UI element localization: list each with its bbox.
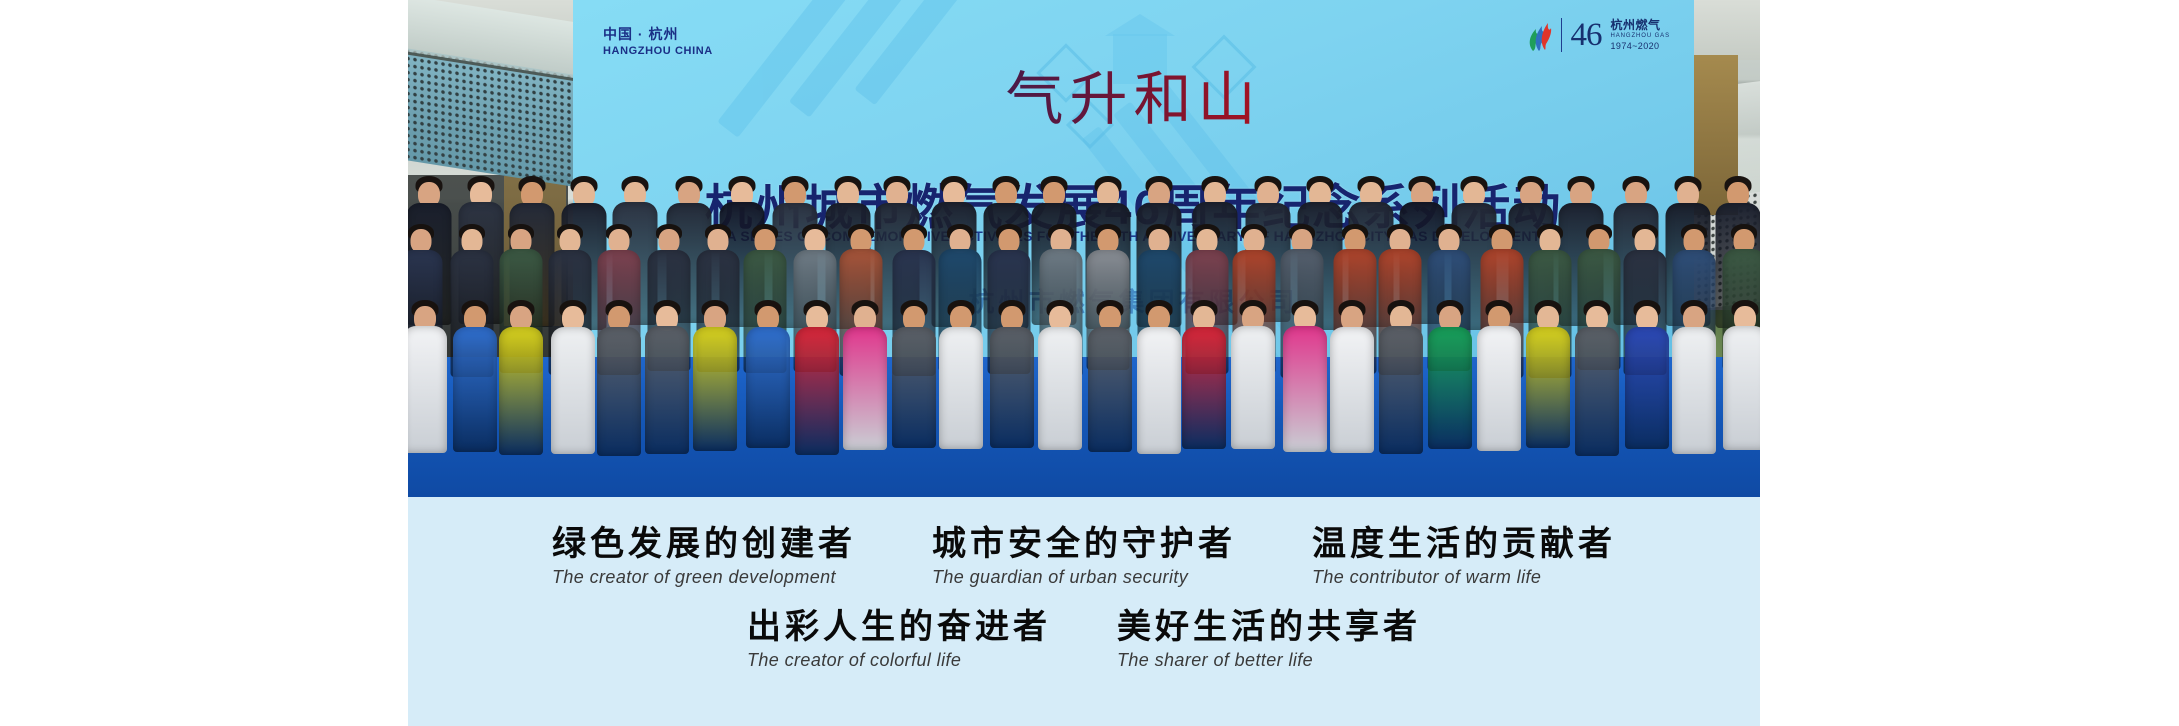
page-root: 中国 · 杭州 HANGZHOU CHINA 46 杭州燃气 HANGZHOU … bbox=[0, 0, 2179, 726]
event-logotype: 气升和山 bbox=[573, 52, 1694, 136]
torso bbox=[1526, 327, 1570, 448]
person-silhouette bbox=[1328, 300, 1377, 453]
person-silhouette bbox=[691, 300, 740, 451]
slogan-item: 出彩人生的奋进者 The creator of colorful life bbox=[747, 608, 1051, 671]
slogan-row-1: 绿色发展的创建者 The creator of green developmen… bbox=[408, 497, 1760, 588]
slogan-en: The contributor of warm life bbox=[1312, 567, 1616, 588]
person-silhouette bbox=[1377, 300, 1426, 454]
torso bbox=[1723, 326, 1760, 450]
person-silhouette bbox=[1524, 300, 1573, 448]
group-photo: 中国 · 杭州 HANGZHOU CHINA 46 杭州燃气 HANGZHOU … bbox=[408, 0, 1760, 497]
slogan-en: The guardian of urban security bbox=[932, 567, 1236, 588]
torso bbox=[892, 327, 936, 448]
slogan-item: 美好生活的共享者 The sharer of better life bbox=[1117, 608, 1421, 671]
torso bbox=[551, 327, 595, 454]
person-silhouette bbox=[643, 300, 692, 454]
torso bbox=[1038, 327, 1082, 450]
torso bbox=[1428, 327, 1472, 449]
person-silhouette bbox=[1229, 300, 1278, 449]
person-silhouette bbox=[792, 300, 841, 455]
torso bbox=[1283, 326, 1327, 452]
torso bbox=[1182, 327, 1226, 449]
torso bbox=[1575, 327, 1619, 456]
slogan-panel: 绿色发展的创建者 The creator of green developmen… bbox=[408, 497, 1760, 726]
flame-icon bbox=[1526, 18, 1552, 52]
brand-text: 杭州燃气 HANGZHOU GAS 1974~2020 bbox=[1611, 18, 1670, 52]
slogan-en: The sharer of better life bbox=[1117, 650, 1421, 671]
torso bbox=[408, 326, 447, 453]
slogan-cn: 温度生活的贡献者 bbox=[1312, 525, 1616, 563]
brand-name-cn: 杭州燃气 bbox=[1611, 18, 1670, 33]
person-silhouette bbox=[595, 300, 644, 456]
person-silhouette bbox=[496, 300, 545, 455]
torso bbox=[1231, 326, 1275, 449]
person-silhouette bbox=[889, 300, 938, 448]
slogan-cn: 绿色发展的创建者 bbox=[552, 525, 856, 563]
person-silhouette bbox=[987, 300, 1036, 448]
person-silhouette bbox=[937, 300, 986, 449]
slogan-item: 绿色发展的创建者 The creator of green developmen… bbox=[552, 525, 856, 588]
person-silhouette bbox=[1035, 300, 1084, 450]
torso bbox=[795, 327, 839, 455]
person-silhouette bbox=[408, 300, 449, 453]
person-silhouette bbox=[744, 300, 793, 448]
torso bbox=[645, 326, 689, 454]
torso bbox=[1625, 327, 1669, 449]
person-silhouette bbox=[840, 300, 889, 450]
slogan-en: The creator of colorful life bbox=[747, 650, 1051, 671]
crowd-of-attendees bbox=[408, 150, 1760, 497]
slogan-cn: 出彩人生的奋进者 bbox=[747, 608, 1051, 646]
torso bbox=[1330, 327, 1374, 453]
torso bbox=[990, 327, 1034, 448]
slogan-item: 温度生活的贡献者 The contributor of warm life bbox=[1312, 525, 1616, 588]
person-silhouette bbox=[451, 300, 500, 452]
brand-years: 1974~2020 bbox=[1611, 41, 1670, 52]
brand-divider bbox=[1561, 18, 1562, 52]
torso bbox=[597, 327, 641, 456]
person-silhouette bbox=[548, 300, 597, 454]
person-silhouette bbox=[1622, 300, 1671, 449]
slogan-row-2: 出彩人生的奋进者 The creator of colorful life 美好… bbox=[408, 588, 1760, 671]
person-silhouette bbox=[1086, 300, 1135, 452]
torso bbox=[1137, 327, 1181, 454]
torso bbox=[453, 327, 497, 452]
torso bbox=[1088, 327, 1132, 452]
torso bbox=[693, 327, 737, 451]
person-silhouette bbox=[1669, 300, 1718, 454]
torso bbox=[499, 327, 543, 455]
slogan-cn: 美好生活的共享者 bbox=[1117, 608, 1421, 646]
person-silhouette bbox=[1475, 300, 1524, 451]
slogan-item: 城市安全的守护者 The guardian of urban security bbox=[932, 525, 1236, 588]
slogan-cn: 城市安全的守护者 bbox=[932, 525, 1236, 563]
person-silhouette bbox=[1425, 300, 1474, 449]
person-silhouette bbox=[1721, 300, 1760, 450]
torso bbox=[843, 327, 887, 450]
location-label-cn: 中国 · 杭州 bbox=[603, 24, 713, 45]
torso bbox=[1379, 326, 1423, 454]
torso bbox=[746, 327, 790, 448]
person-silhouette bbox=[1134, 300, 1183, 454]
anniversary-number: 46 bbox=[1571, 19, 1602, 52]
person-silhouette bbox=[1572, 300, 1621, 456]
torso bbox=[1477, 326, 1521, 451]
person-silhouette bbox=[1281, 300, 1330, 452]
torso bbox=[1672, 327, 1716, 454]
person-silhouette bbox=[1180, 300, 1229, 449]
content-column: 中国 · 杭州 HANGZHOU CHINA 46 杭州燃气 HANGZHOU … bbox=[408, 0, 1760, 726]
brand-name-en: HANGZHOU GAS bbox=[1611, 33, 1670, 41]
slogan-en: The creator of green development bbox=[552, 567, 856, 588]
brand-lockup: 46 杭州燃气 HANGZHOU GAS 1974~2020 bbox=[1526, 18, 1670, 52]
torso bbox=[939, 327, 983, 449]
